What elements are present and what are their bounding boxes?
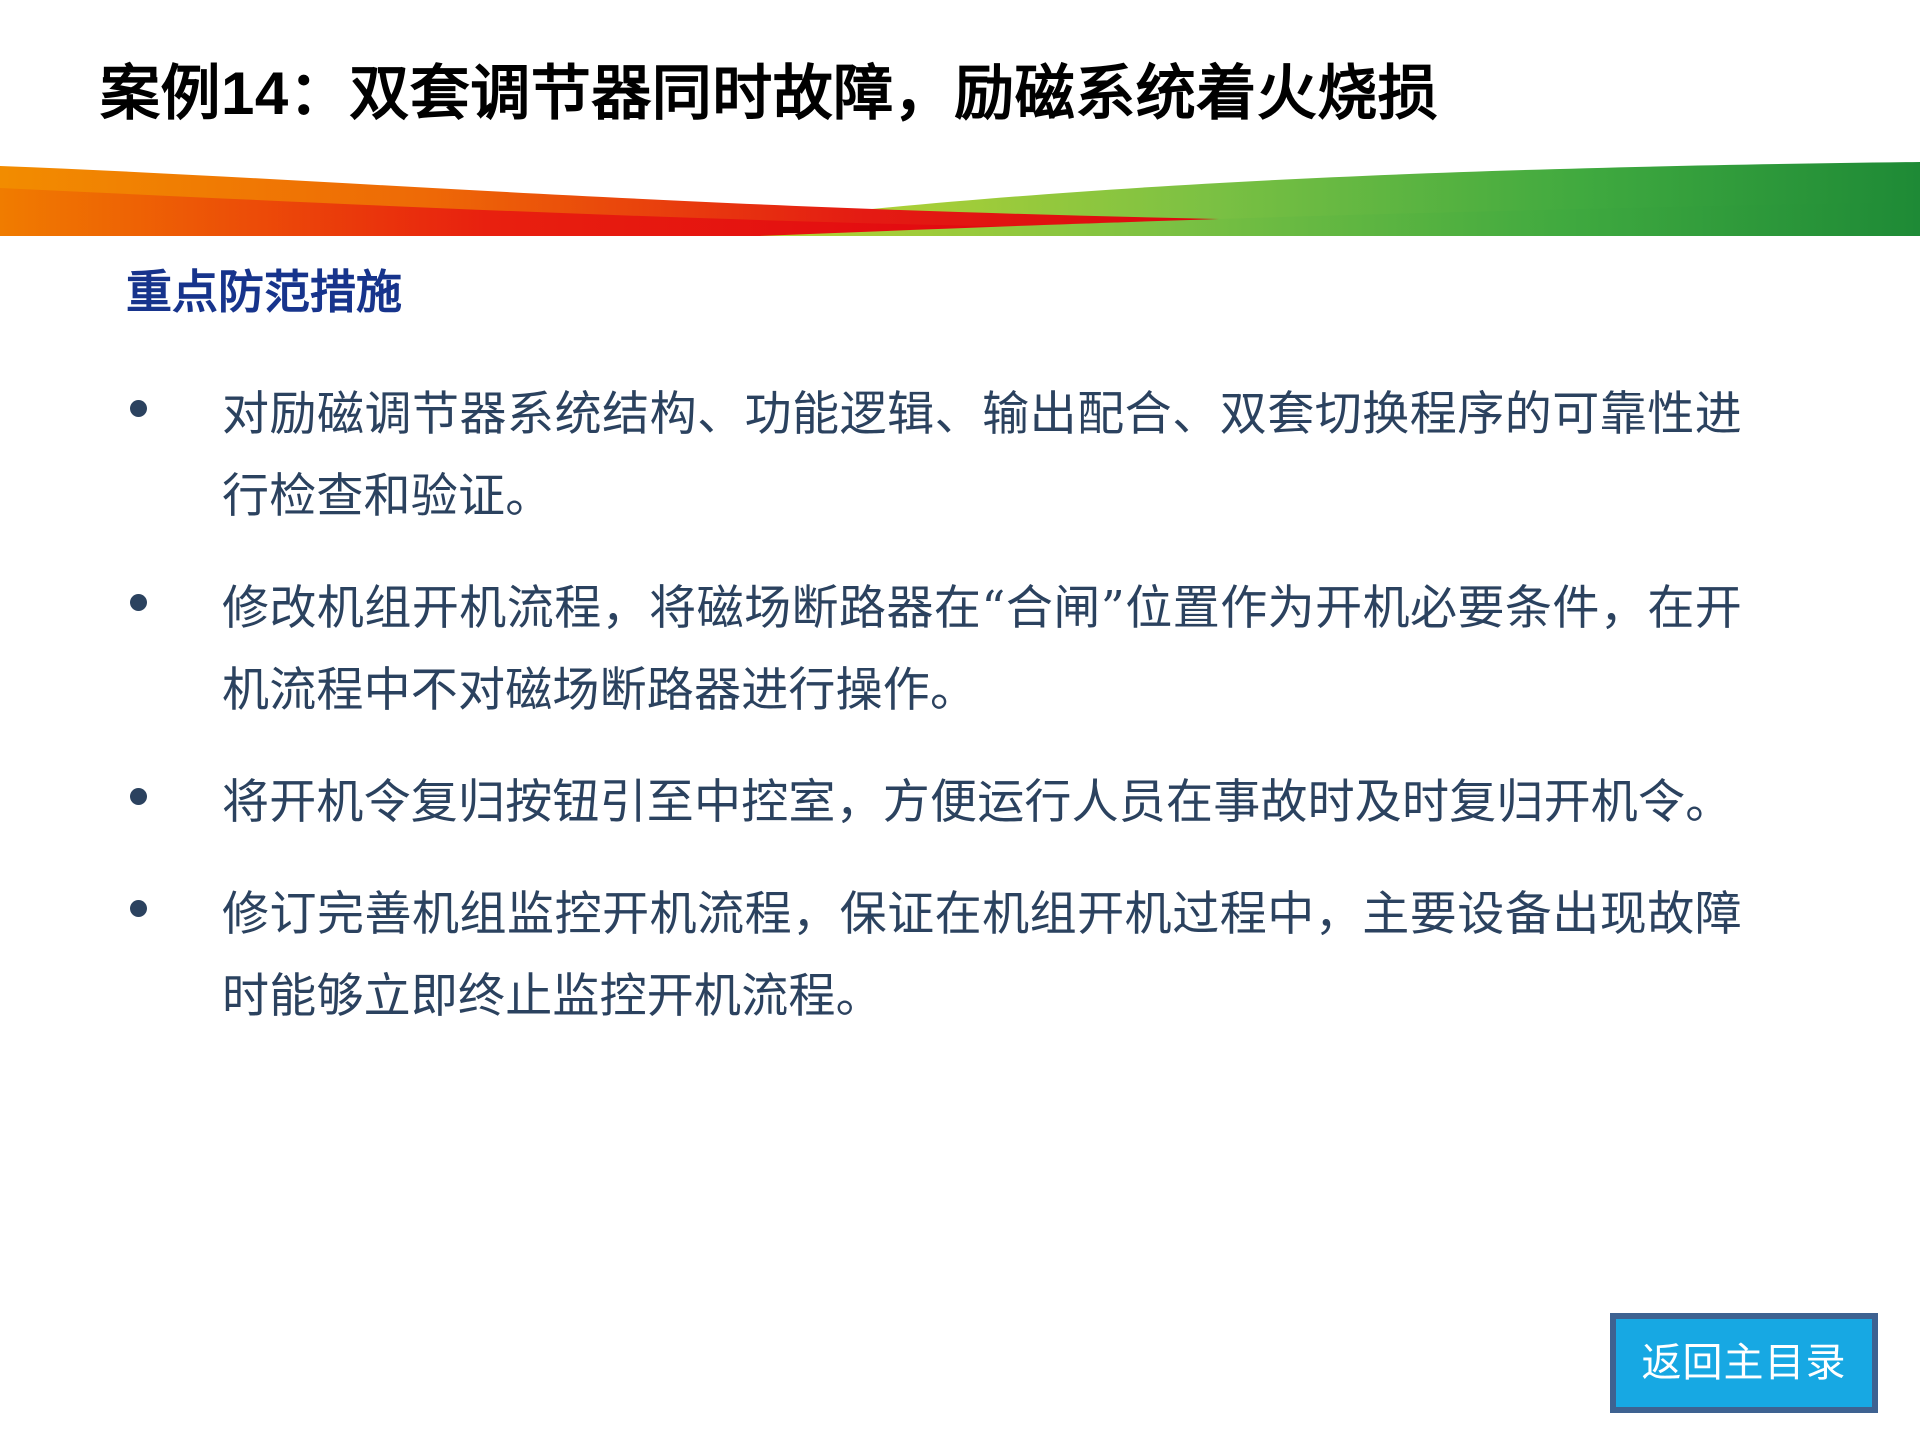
slide-canvas: 案例14：双套调节器同时故障，励磁系统着火烧损 [0, 0, 1920, 1440]
bullet-dot-icon [130, 400, 147, 417]
section-heading: 重点防范措施 [126, 262, 402, 322]
list-item-text: 修订完善机组监控开机流程，保证在机组开机过程中，主要设备出现故障时能够立即终止监… [222, 874, 1742, 1038]
bullet-dot-icon [130, 900, 147, 917]
prevention-measures-list: 对励磁调节器系统结构、功能逻辑、输出配合、双套切换程序的可靠性进行检查和验证。 … [0, 374, 1920, 1038]
decorative-wave-band [0, 152, 1920, 236]
return-to-main-menu-button[interactable]: 返回主目录 [1610, 1313, 1878, 1413]
list-item-text: 将开机令复归按钮引至中控室，方便运行人员在事故时及时复归开机令。 [222, 762, 1742, 844]
title-bar: 案例14：双套调节器同时故障，励磁系统着火烧损 [0, 46, 1920, 156]
list-item: 将开机令复归按钮引至中控室，方便运行人员在事故时及时复归开机令。 [0, 762, 1920, 844]
list-item-text: 对励磁调节器系统结构、功能逻辑、输出配合、双套切换程序的可靠性进行检查和验证。 [222, 374, 1742, 538]
list-item: 修改机组开机流程，将磁场断路器在“合闸”位置作为开机必要条件，在开机流程中不对磁… [0, 568, 1920, 732]
page-title: 案例14：双套调节器同时故障，励磁系统着火烧损 [100, 46, 1438, 142]
list-item: 修订完善机组监控开机流程，保证在机组开机过程中，主要设备出现故障时能够立即终止监… [0, 874, 1920, 1038]
list-item-text: 修改机组开机流程，将磁场断路器在“合闸”位置作为开机必要条件，在开机流程中不对磁… [222, 568, 1742, 732]
bullet-dot-icon [130, 594, 147, 611]
list-item: 对励磁调节器系统结构、功能逻辑、输出配合、双套切换程序的可靠性进行检查和验证。 [0, 374, 1920, 538]
wave-graphic [0, 152, 1920, 236]
bullet-dot-icon [130, 788, 147, 805]
return-to-main-menu-label: 返回主目录 [1642, 1339, 1847, 1387]
